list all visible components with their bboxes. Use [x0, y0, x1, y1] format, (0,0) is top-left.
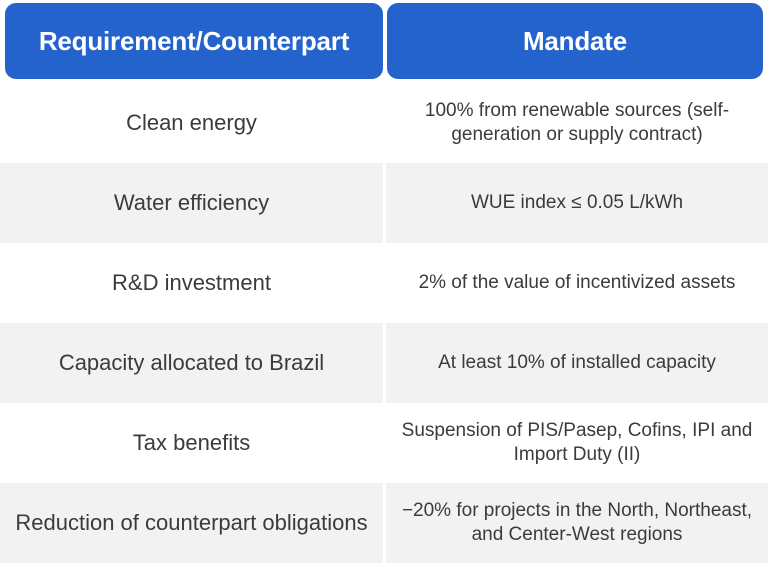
- cell-requirement-text: Clean energy: [126, 109, 257, 137]
- table-row: Capacity allocated to Brazil At least 10…: [0, 323, 768, 403]
- table-row: Tax benefits Suspension of PIS/Pasep, Co…: [0, 403, 768, 483]
- cell-requirement-text: R&D investment: [112, 269, 271, 297]
- cell-requirement: Reduction of counterpart obligations: [0, 483, 383, 563]
- cell-requirement-text: Water efficiency: [114, 189, 269, 217]
- table-body: Clean energy 100% from renewable sources…: [0, 83, 768, 568]
- table-row: R&D investment 2% of the value of incent…: [0, 243, 768, 323]
- cell-requirement: R&D investment: [0, 243, 383, 323]
- cell-requirement: Tax benefits: [0, 403, 383, 483]
- cell-requirement: Clean energy: [0, 83, 383, 163]
- cell-mandate-text: −20% for projects in the North, Northeas…: [400, 499, 754, 548]
- column-header-mandate: Mandate: [387, 3, 763, 79]
- cell-mandate: 2% of the value of incentivized assets: [386, 243, 768, 323]
- cell-requirement-text: Capacity allocated to Brazil: [59, 349, 324, 377]
- cell-requirement: Water efficiency: [0, 163, 383, 243]
- cell-mandate: Suspension of PIS/Pasep, Cofins, IPI and…: [386, 403, 768, 483]
- table-row: Water efficiency WUE index ≤ 0.05 L/kWh: [0, 163, 768, 243]
- column-header-mandate-label: Mandate: [523, 27, 627, 56]
- cell-mandate: WUE index ≤ 0.05 L/kWh: [386, 163, 768, 243]
- column-header-requirement-label: Requirement/Counterpart: [39, 27, 349, 56]
- table-header-row: Requirement/Counterpart Mandate: [0, 3, 768, 79]
- table-row: Reduction of counterpart obligations −20…: [0, 483, 768, 563]
- table-row: Clean energy 100% from renewable sources…: [0, 83, 768, 163]
- column-header-requirement: Requirement/Counterpart: [5, 3, 383, 79]
- cell-mandate-text: 2% of the value of incentivized assets: [419, 271, 736, 295]
- cell-mandate-text: 100% from renewable sources (self-genera…: [400, 99, 754, 148]
- cell-requirement-text: Reduction of counterpart obligations: [15, 509, 367, 537]
- cell-mandate-text: At least 10% of installed capacity: [438, 351, 716, 375]
- cell-mandate-text: Suspension of PIS/Pasep, Cofins, IPI and…: [400, 419, 754, 468]
- cell-requirement-text: Tax benefits: [133, 429, 250, 457]
- cell-mandate-text: WUE index ≤ 0.05 L/kWh: [471, 191, 683, 215]
- cell-mandate: At least 10% of installed capacity: [386, 323, 768, 403]
- cell-mandate: 100% from renewable sources (self-genera…: [386, 83, 768, 163]
- cell-mandate: −20% for projects in the North, Northeas…: [386, 483, 768, 563]
- cell-requirement: Capacity allocated to Brazil: [0, 323, 383, 403]
- requirements-table: Requirement/Counterpart Mandate Clean en…: [0, 0, 768, 568]
